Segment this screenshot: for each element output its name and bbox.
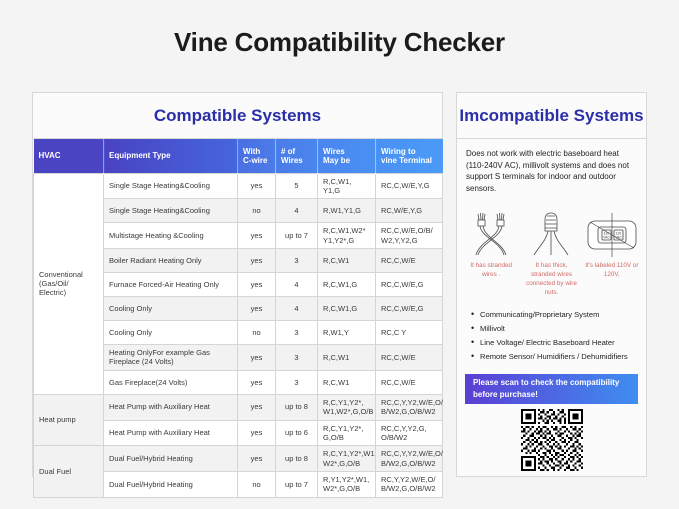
cell-may-be: R,C,W1 <box>318 249 376 273</box>
voltage-label-icon: 110 VAC 120 VAC <box>583 211 641 259</box>
cell-terminal: RC,C,W/E <box>376 345 443 371</box>
cell-terminal: RC,C,W/E,O/B/ W2,Y,Y2,G <box>376 223 443 249</box>
compatible-systems-panel: Compatible Systems HVAC Equipment Type W… <box>32 92 443 477</box>
column-header-number-of-wires-line1: # of <box>281 147 295 156</box>
cell-may-be: R,C,W1,W2* Y1,Y2*,G <box>318 223 376 249</box>
stranded-wires-icon <box>462 211 520 259</box>
cell-equipment: Multistage Heating &Cooling <box>104 223 238 249</box>
caption-wire-nut: It has thick, stranded wires connected b… <box>521 262 581 297</box>
group-cell-dual-fuel: Dual Fuel <box>34 446 104 498</box>
compatibility-table: HVAC Equipment Type With C-wire # of Wir… <box>33 139 443 498</box>
scan-banner: Please scan to check the compatibility b… <box>465 374 638 404</box>
list-item: Communicating/Proprietary System <box>471 310 646 319</box>
group-cell-heat-pump: Heat pump <box>34 394 104 446</box>
cell-may-be: R,C,Y1,Y2*,W1 W2*,G,O/B <box>318 446 376 472</box>
cell-cwire: yes <box>238 249 276 273</box>
cell-cwire: yes <box>238 297 276 321</box>
qr-code-container <box>457 404 646 476</box>
cell-terminal: RC,C,Y,Y2,W/E,O/ B/W2,G,O/B/W2 <box>376 446 443 472</box>
cell-wires: 4 <box>276 199 318 223</box>
incompatible-systems-heading: Imcompatible Systems <box>457 93 646 139</box>
column-header-with-cwire: With C-wire <box>238 139 276 173</box>
svg-text:VAC: VAC <box>603 236 610 240</box>
cell-cwire: yes <box>238 345 276 371</box>
cell-may-be: R,C,W1,G <box>318 297 376 321</box>
group-cell-conventional: Conventional (Gas/Oil/ Electric) <box>34 173 104 394</box>
cell-wires: up to 7 <box>276 223 318 249</box>
cell-cwire: yes <box>238 420 276 446</box>
cell-equipment: Gas Fireplace(24 Volts) <box>104 370 238 394</box>
cell-wires: 3 <box>276 345 318 371</box>
table-body: Conventional (Gas/Oil/ Electric) Single … <box>34 173 443 497</box>
incompatible-bullet-list: Communicating/Proprietary System Millivo… <box>457 298 646 366</box>
group-label-line2: (Gas/Oil/ <box>39 279 69 288</box>
cell-terminal: RC,C,W/E,G <box>376 297 443 321</box>
cell-wires: up to 8 <box>276 394 318 420</box>
cell-terminal: RC,C,W/E <box>376 370 443 394</box>
cell-cwire: yes <box>238 273 276 297</box>
cell-wires: 3 <box>276 321 318 345</box>
cell-terminal: RC,C,W/E,Y,G <box>376 173 443 199</box>
column-header-hvac: HVAC <box>34 139 104 173</box>
cell-wires: 3 <box>276 370 318 394</box>
cell-equipment: Cooling Only <box>104 297 238 321</box>
cell-cwire: yes <box>238 446 276 472</box>
cell-may-be: R,W1,Y1,G <box>318 199 376 223</box>
cell-wires: up to 8 <box>276 446 318 472</box>
incompatible-intro-text: Does not work with electric baseboard he… <box>457 139 646 201</box>
column-header-with-cwire-line2: C-wire <box>243 156 267 165</box>
column-header-wiring-terminal-line2: vine Terminal <box>381 156 432 165</box>
cell-terminal: RC,C,W/E,G <box>376 273 443 297</box>
cell-cwire: yes <box>238 370 276 394</box>
cell-wires: up to 7 <box>276 472 318 498</box>
illustration-captions: It has stranded wires . It has thick, st… <box>457 259 646 297</box>
cell-equipment: Heat Pump with Auxiliary Heat <box>104 394 238 420</box>
cell-may-be: R,C,Y1,Y2*, W1,W2*,G,O/B <box>318 394 376 420</box>
cell-cwire: yes <box>238 173 276 199</box>
compatibility-checker-page: Vine Compatibility Checker Compatible Sy… <box>0 0 679 509</box>
table-header: HVAC Equipment Type With C-wire # of Wir… <box>34 139 443 173</box>
cell-may-be: R,C,W1 <box>318 345 376 371</box>
page-title: Vine Compatibility Checker <box>0 27 679 58</box>
cell-equipment: Single Stage Heating&Cooling <box>104 199 238 223</box>
table-row: Heat pump Heat Pump with Auxiliary Heat … <box>34 394 443 420</box>
list-item: Line Voltage/ Electric Baseboard Heater <box>471 338 646 347</box>
qr-code[interactable] <box>521 409 583 471</box>
table-row: Conventional (Gas/Oil/ Electric) Single … <box>34 173 443 199</box>
cell-may-be: R,C,Y1,Y2*, G,O/B <box>318 420 376 446</box>
cell-equipment: Heating OnlyFor example Gas Fireplace (2… <box>104 345 238 371</box>
cell-wires: 4 <box>276 297 318 321</box>
column-header-wiring-terminal-line1: Wiring to <box>381 147 416 156</box>
column-header-number-of-wires: # of Wires <box>276 139 318 173</box>
column-header-equipment-type: Equipment Type <box>104 139 238 173</box>
cell-terminal: RC,C,W/E <box>376 249 443 273</box>
list-item: Remote Sensor/ Humidifiers / Dehumidifie… <box>471 352 646 361</box>
cell-cwire: no <box>238 472 276 498</box>
list-item: Millivolt <box>471 324 646 333</box>
compatible-systems-heading: Compatible Systems <box>33 93 442 139</box>
cell-equipment: Dual Fuel/Hybrid Heating <box>104 472 238 498</box>
cell-equipment: Dual Fuel/Hybrid Heating <box>104 446 238 472</box>
cell-may-be: R,C,W1,G <box>318 273 376 297</box>
cell-may-be: R,C,W1 <box>318 370 376 394</box>
cell-wires: 5 <box>276 173 318 199</box>
cell-wires: 3 <box>276 249 318 273</box>
column-header-number-of-wires-line2: Wires <box>281 156 303 165</box>
caption-stranded-wires: It has stranded wires . <box>461 262 521 297</box>
cell-wires: up to 6 <box>276 420 318 446</box>
column-header-wiring-to-vine-terminal: Wiring to vine Terminal <box>376 139 443 173</box>
cell-cwire: yes <box>238 394 276 420</box>
cell-terminal: RC,C,Y,Y2,G, O/B/W2 <box>376 420 443 446</box>
column-header-wires-may-be: Wires May be <box>318 139 376 173</box>
cell-equipment: Cooling Only <box>104 321 238 345</box>
cell-wires: 4 <box>276 273 318 297</box>
column-header-wires-may-be-line2: May be <box>323 156 350 165</box>
column-header-wires-may-be-line1: Wires <box>323 147 345 156</box>
cell-cwire: no <box>238 321 276 345</box>
wire-nut-icon <box>522 211 580 259</box>
group-label-line1: Conventional <box>39 270 83 279</box>
cell-terminal: RC,Y,Y2,W/E,O/ B/W2,G,O/B/W2 <box>376 472 443 498</box>
cell-terminal: RC,W/E,Y,G <box>376 199 443 223</box>
cell-equipment: Boiler Radiant Heating Only <box>104 249 238 273</box>
cell-cwire: yes <box>238 223 276 249</box>
cell-may-be: R,C,W1, Y1,G <box>318 173 376 199</box>
cell-may-be: R,Y1,Y2*,W1, W2*,G,O/B <box>318 472 376 498</box>
cell-equipment: Heat Pump with Auxiliary Heat <box>104 420 238 446</box>
table-header-row: HVAC Equipment Type With C-wire # of Wir… <box>34 139 443 173</box>
cell-terminal: RC,C,Y,Y2,W/E,O/ B/W2,G,O/B/W2 <box>376 394 443 420</box>
column-header-with-cwire-line1: With <box>243 147 260 156</box>
illustrations-row: 110 VAC 120 VAC <box>457 201 646 259</box>
cell-equipment: Furnace Forced-Air Heating Only <box>104 273 238 297</box>
cell-terminal: RC,C Y <box>376 321 443 345</box>
cell-equipment: Single Stage Heating&Cooling <box>104 173 238 199</box>
caption-voltage-label: It's labeled 110V or 120V. <box>582 262 642 297</box>
incompatible-systems-panel: Imcompatible Systems Does not work with … <box>456 92 647 477</box>
table-row: Dual Fuel Dual Fuel/Hybrid Heating yes u… <box>34 446 443 472</box>
cell-cwire: no <box>238 199 276 223</box>
group-label-line3: Electric) <box>39 288 66 297</box>
cell-may-be: R,W1,Y <box>318 321 376 345</box>
